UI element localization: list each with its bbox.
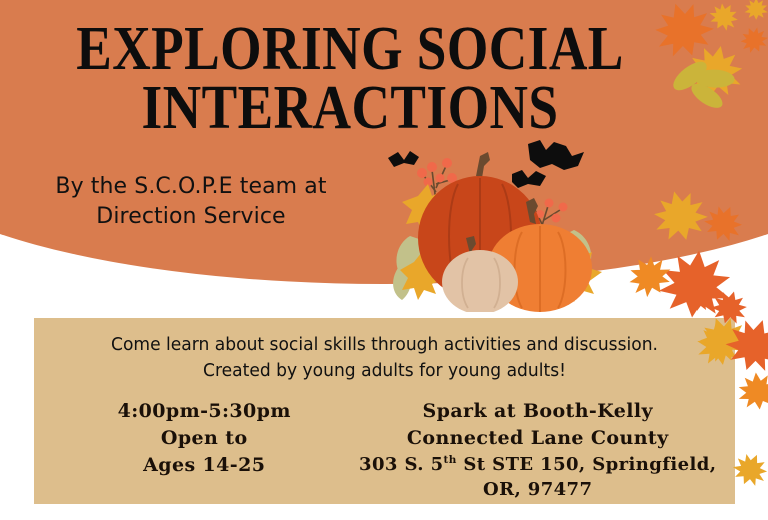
street-ordinal: th <box>444 454 457 466</box>
description-line-2: Created by young adults for young adults… <box>52 358 718 384</box>
event-flyer: EXPLORING SOCIAL INTERACTIONS By the S.C… <box>0 0 768 520</box>
street-address: 303 S. 5th St STE 150, Springfield, <box>356 452 719 477</box>
description-line-1: Come learn about social skills through a… <box>52 332 718 358</box>
location-info: Spark at Booth-Kelly Connected Lane Coun… <box>356 398 735 502</box>
details-panel: Come learn about social skills through a… <box>34 318 735 504</box>
age-range: Ages 14-25 <box>52 452 356 479</box>
street-prefix: 303 S. 5 <box>359 454 443 475</box>
maple-leaf-icon <box>736 370 768 411</box>
event-time: 4:00pm-5:30pm <box>52 398 356 425</box>
header-background-shape <box>0 0 768 284</box>
schedule-info: 4:00pm-5:30pm Open to Ages 14-25 <box>34 398 356 479</box>
subtitle: By the S.C.O.P.E team at Direction Servi… <box>26 172 356 233</box>
maple-leaf-icon <box>690 300 715 313</box>
details-columns: 4:00pm-5:30pm Open to Ages 14-25 Spark a… <box>34 398 735 502</box>
city-region-zip: OR, 97477 <box>356 477 719 502</box>
organization-name: Connected Lane County <box>356 425 719 452</box>
street-suffix: St STE 150, Springfield, <box>457 454 717 475</box>
open-to-label: Open to <box>52 425 356 452</box>
subtitle-line-1: By the S.C.O.P.E team at <box>26 172 356 202</box>
subtitle-line-2: Direction Service <box>26 202 356 232</box>
description-text: Come learn about social skills through a… <box>52 332 718 384</box>
venue-name: Spark at Booth-Kelly <box>356 398 719 425</box>
